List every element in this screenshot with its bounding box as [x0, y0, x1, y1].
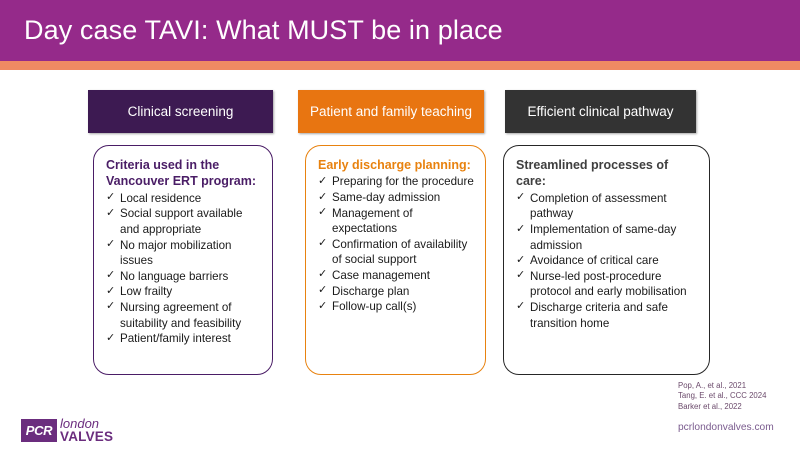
column-body-0: Criteria used in the Vancouver ERT progr…: [93, 145, 273, 375]
check-icon: ✓: [318, 205, 327, 221]
list-item: ✓Local residence: [106, 191, 263, 207]
citation-line: Tang, E. et al., CCC 2024: [678, 391, 766, 401]
list-item: ✓Nurse-led post-procedure protocol and e…: [516, 269, 700, 300]
list-item-label: No major mobilization issues: [120, 239, 231, 268]
checklist-1: ✓Preparing for the procedure ✓Same-day a…: [318, 174, 476, 314]
check-icon: ✓: [106, 206, 115, 222]
list-item-label: Confirmation of availability of social s…: [332, 238, 467, 267]
column-body-1: Early discharge planning: ✓Preparing for…: [305, 145, 486, 375]
list-item: ✓Discharge criteria and safe transition …: [516, 300, 700, 331]
check-icon: ✓: [106, 299, 115, 315]
pcr-logo-mark: PCR: [21, 419, 57, 442]
title-band: Day case TAVI: What MUST be in place: [0, 0, 800, 61]
citation-line: Barker et al., 2022: [678, 402, 766, 412]
website-link[interactable]: pcrlondonvalves.com: [678, 422, 774, 433]
page-title: Day case TAVI: What MUST be in place: [24, 13, 503, 47]
list-item-label: Follow-up call(s): [332, 300, 416, 313]
column-heading-2: Streamlined processes of care:: [516, 157, 700, 190]
column-clinical-screening: Clinical screening Criteria used in the …: [88, 90, 273, 133]
check-icon: ✓: [106, 190, 115, 206]
check-icon: ✓: [106, 331, 115, 347]
list-item-label: No language barriers: [120, 270, 228, 283]
list-item: ✓Same-day admission: [318, 190, 476, 206]
logo-line-valves: VALVES: [60, 430, 113, 443]
check-icon: ✓: [516, 299, 525, 315]
check-icon: ✓: [318, 174, 327, 190]
check-icon: ✓: [516, 268, 525, 284]
list-item: ✓Case management: [318, 268, 476, 284]
column-heading-1: Early discharge planning:: [318, 157, 476, 173]
check-icon: ✓: [318, 299, 327, 315]
list-item-label: Patient/family interest: [120, 332, 231, 345]
list-item: ✓Social support available and appropriat…: [106, 206, 263, 237]
list-item-label: Local residence: [120, 192, 201, 205]
list-item-label: Avoidance of critical care: [530, 254, 659, 267]
list-item: ✓No major mobilization issues: [106, 238, 263, 269]
list-item: ✓Follow-up call(s): [318, 299, 476, 315]
accent-stripe: [0, 61, 800, 70]
list-item-label: Management of expectations: [332, 207, 413, 236]
list-item-label: Nurse-led post-procedure protocol and ea…: [530, 270, 687, 299]
check-icon: ✓: [318, 190, 327, 206]
check-icon: ✓: [318, 283, 327, 299]
list-item: ✓Discharge plan: [318, 284, 476, 300]
list-item-label: Implementation of same-day admission: [530, 223, 676, 252]
column-efficient-clinical-pathway: Efficient clinical pathway Streamlined p…: [505, 90, 696, 133]
column-header-1: Patient and family teaching: [298, 90, 484, 133]
list-item-label: Nursing agreement of suitability and fea…: [120, 301, 241, 330]
list-item-label: Case management: [332, 269, 430, 282]
list-item-label: Same-day admission: [332, 191, 440, 204]
column-heading-0: Criteria used in the Vancouver ERT progr…: [106, 157, 263, 190]
list-item: ✓Nursing agreement of suitability and fe…: [106, 300, 263, 331]
list-item-label: Discharge plan: [332, 285, 409, 298]
column-patient-family-teaching: Patient and family teaching Early discha…: [298, 90, 484, 133]
checklist-2: ✓Completion of assessment pathway ✓Imple…: [516, 191, 700, 331]
list-item: ✓Low frailty: [106, 284, 263, 300]
citations: Pop, A., et al., 2021 Tang, E. et al., C…: [678, 381, 766, 412]
checklist-0: ✓Local residence ✓Social support availab…: [106, 191, 263, 347]
list-item: ✓Implementation of same-day admission: [516, 222, 700, 253]
column-header-2: Efficient clinical pathway: [505, 90, 696, 133]
list-item-label: Preparing for the procedure: [332, 175, 474, 188]
list-item: ✓Avoidance of critical care: [516, 253, 700, 269]
check-icon: ✓: [106, 237, 115, 253]
check-icon: ✓: [516, 190, 525, 206]
check-icon: ✓: [318, 236, 327, 252]
list-item: ✓No language barriers: [106, 269, 263, 285]
list-item: ✓Preparing for the procedure: [318, 174, 476, 190]
check-icon: ✓: [516, 253, 525, 269]
check-icon: ✓: [106, 284, 115, 300]
list-item: ✓Management of expectations: [318, 206, 476, 237]
list-item-label: Completion of assessment pathway: [530, 192, 667, 221]
citation-line: Pop, A., et al., 2021: [678, 381, 766, 391]
logo-wordmark: london VALVES: [60, 417, 113, 443]
list-item: ✓Patient/family interest: [106, 331, 263, 347]
column-body-2: Streamlined processes of care: ✓Completi…: [503, 145, 710, 375]
pcr-london-valves-logo: PCR london VALVES: [21, 417, 113, 443]
check-icon: ✓: [516, 222, 525, 238]
list-item-label: Low frailty: [120, 285, 172, 298]
list-item-label: Discharge criteria and safe transition h…: [530, 301, 668, 330]
check-icon: ✓: [318, 267, 327, 283]
list-item: ✓Confirmation of availability of social …: [318, 237, 476, 268]
column-header-0: Clinical screening: [88, 90, 273, 133]
list-item: ✓Completion of assessment pathway: [516, 191, 700, 222]
check-icon: ✓: [106, 268, 115, 284]
list-item-label: Social support available and appropriate: [120, 207, 242, 236]
